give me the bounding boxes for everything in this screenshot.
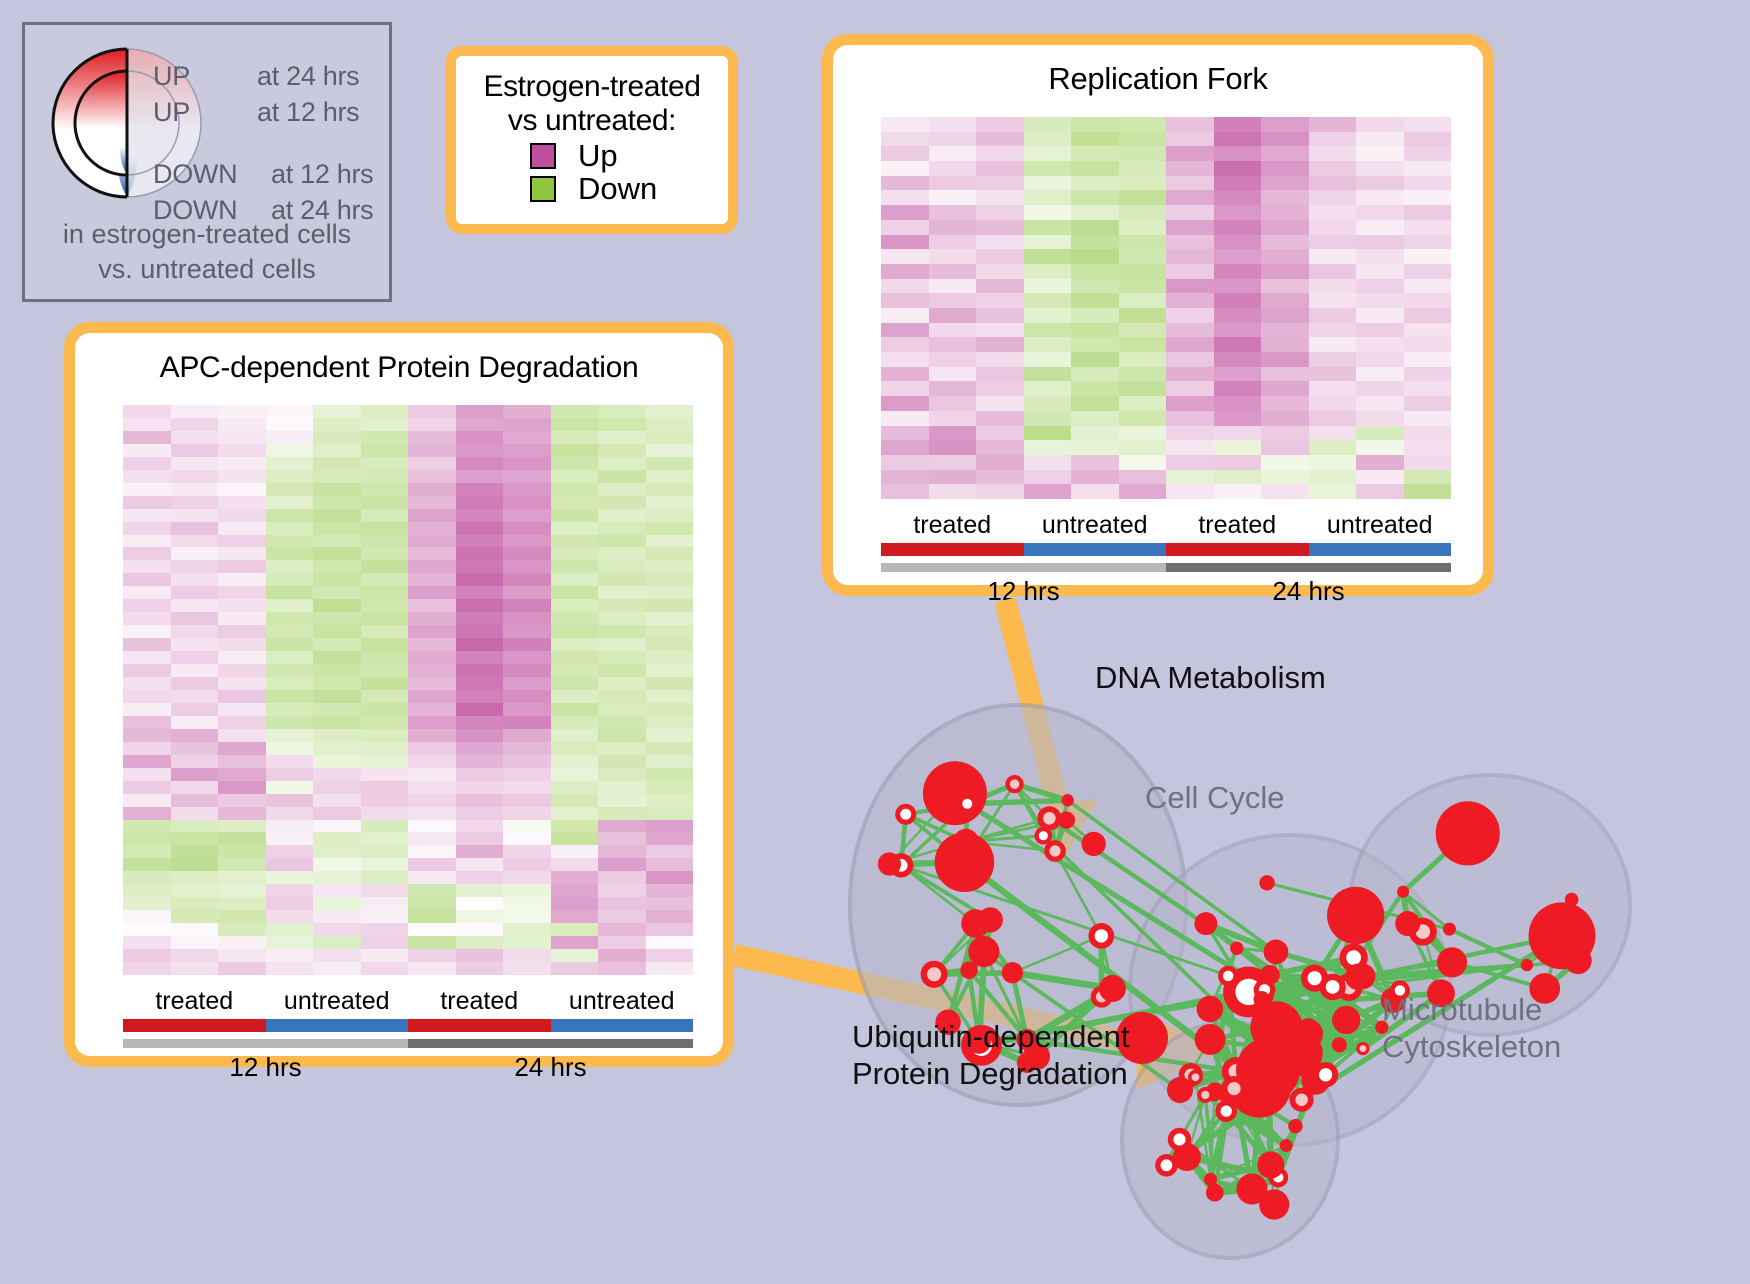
network-node[interactable]: [1218, 966, 1238, 986]
network-svg: [790, 620, 1750, 1279]
network-node[interactable]: [1005, 775, 1023, 793]
network-node[interactable]: [1195, 1024, 1226, 1055]
network-node[interactable]: [1155, 1154, 1178, 1177]
cluster-label-ubiquitin-line2: Protein Degradation: [852, 1055, 1130, 1092]
network-node[interactable]: [1197, 996, 1224, 1023]
network-node[interactable]: [1332, 1037, 1347, 1052]
network-node[interactable]: [1254, 991, 1270, 1007]
network-node[interactable]: [923, 761, 987, 825]
figure-canvas: UP at 24 hrs UP at 12 hrs DOWN at 12 hrs…: [0, 0, 1750, 1279]
network-node[interactable]: [1436, 801, 1500, 865]
network-node[interactable]: [1259, 875, 1274, 890]
network-node[interactable]: [1259, 1189, 1289, 1219]
network-node[interactable]: [1395, 911, 1420, 936]
cluster-label-microtubule-cytoskeleton: Microtubule Cytoskeleton: [1382, 992, 1561, 1065]
network-node[interactable]: [1293, 1019, 1323, 1049]
network-node[interactable]: [1194, 912, 1217, 935]
network-node[interactable]: [1397, 886, 1409, 898]
network-node[interactable]: [1061, 794, 1073, 806]
network-node[interactable]: [960, 961, 978, 979]
network-node[interactable]: [1290, 1088, 1314, 1112]
network-node[interactable]: [1230, 942, 1243, 955]
network-node[interactable]: [1257, 1151, 1284, 1178]
network-node[interactable]: [1236, 1038, 1300, 1102]
network-node[interactable]: [1327, 887, 1384, 944]
network-node[interactable]: [1002, 962, 1023, 983]
network-node[interactable]: [878, 852, 901, 875]
network-node[interactable]: [953, 829, 979, 855]
network-node[interactable]: [1088, 923, 1114, 949]
network-node[interactable]: [1034, 827, 1052, 845]
network-node[interactable]: [1082, 832, 1106, 856]
network-node[interactable]: [1350, 964, 1376, 990]
network-node[interactable]: [1037, 806, 1061, 830]
network-node[interactable]: [1332, 1006, 1360, 1034]
network-node[interactable]: [1168, 1128, 1192, 1152]
network-node[interactable]: [978, 907, 1003, 932]
network-node[interactable]: [895, 804, 916, 825]
network-node[interactable]: [1564, 947, 1591, 974]
network-node[interactable]: [1099, 975, 1126, 1002]
network-node[interactable]: [1280, 1139, 1293, 1152]
cluster-label-dna-metabolism: DNA Metabolism: [1095, 660, 1326, 696]
network-node[interactable]: [1437, 947, 1467, 977]
network-node[interactable]: [1288, 1119, 1302, 1133]
network-node[interactable]: [921, 961, 948, 988]
network-node[interactable]: [1197, 1087, 1213, 1103]
cluster-label-microtubule-line2: Cytoskeleton: [1382, 1029, 1561, 1066]
network-node[interactable]: [958, 794, 977, 813]
cluster-label-microtubule-line1: Microtubule: [1382, 992, 1561, 1029]
network-node[interactable]: [1264, 940, 1289, 965]
network-node[interactable]: [1167, 1077, 1193, 1103]
network-node[interactable]: [1356, 1042, 1369, 1055]
cluster-label-ubiquitin-degradation: Ubiquitin-dependent Protein Degradation: [852, 1018, 1130, 1092]
network-node[interactable]: [1206, 1184, 1224, 1202]
network-node[interactable]: [1565, 893, 1579, 907]
cluster-label-ubiquitin-line1: Ubiquitin-dependent: [852, 1018, 1130, 1055]
network-node[interactable]: [1319, 974, 1345, 1000]
network-node[interactable]: [1443, 923, 1456, 936]
network-node[interactable]: [1521, 959, 1533, 971]
network-node[interactable]: [1313, 1062, 1338, 1087]
cluster-label-cell-cycle: Cell Cycle: [1145, 780, 1285, 816]
network-node[interactable]: [973, 942, 995, 964]
network-node[interactable]: [1260, 965, 1280, 985]
pathway-network: DNA Metabolism Cell Cycle Microtubule Cy…: [790, 620, 1750, 1279]
network-node[interactable]: [1215, 1100, 1237, 1122]
